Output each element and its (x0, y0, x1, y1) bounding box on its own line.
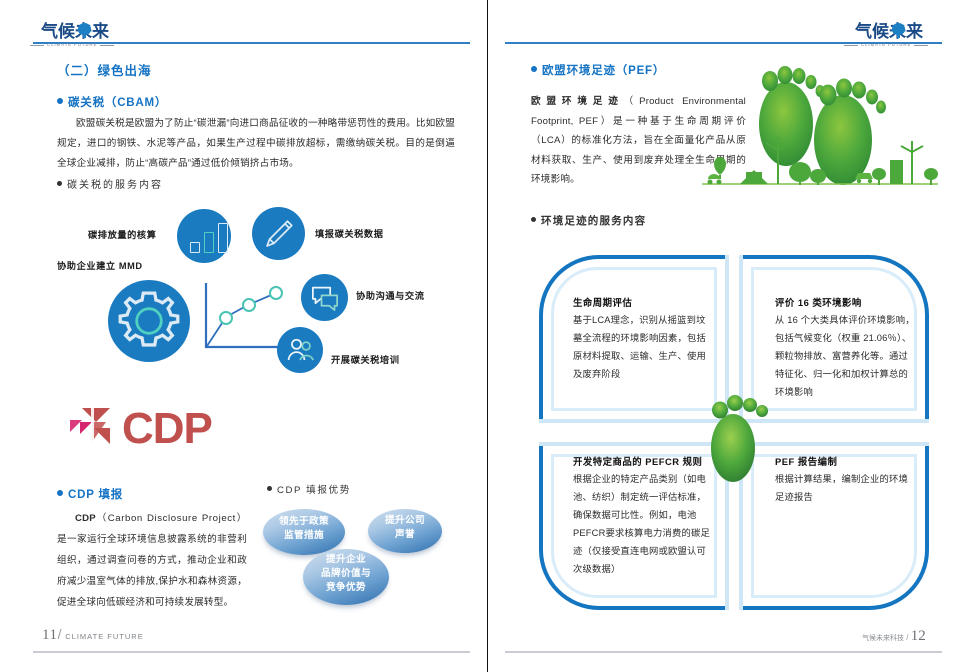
advantage-label-1: 提升公司 声誉 (368, 509, 442, 553)
advantage-label-2: 提升企业 品牌价值与 竞争优势 (303, 549, 389, 605)
balloon-pin-icon (892, 23, 905, 38)
quadrant-body-2: 根据企业的特定产品类别（如电池、纺织）制定统一评估标准，确保数据可比性。例如，电… (573, 470, 715, 578)
balloon-pin-icon (78, 23, 91, 38)
cdp-advantage-heading: CDP 填报优势 (267, 482, 351, 496)
pencil-glyph (262, 217, 296, 251)
left-footer-label: CLIMATE FUTURE (65, 632, 143, 641)
pef-services-heading: 环境足迹的服务内容 (531, 213, 646, 228)
logo-text-en: CLIMATE FUTURE (861, 42, 911, 47)
right-page-number: 12 (911, 628, 926, 644)
logo-text-cn: 气候未来 (41, 22, 109, 41)
cdp-logo-wordmark: CDP (122, 404, 212, 454)
chat-icon (301, 274, 348, 321)
right-header-logo: 气候未来 CLIMATE FUTURE (855, 22, 947, 52)
quadrant-title-1: 评价 16 类环境影响 (775, 295, 862, 309)
pef-service-quadrants: 生命周期评估 基于LCA理念，识别从摇篮到坟墓全流程的环境影响因素，包括原材料提… (539, 255, 929, 610)
bullet-dot-icon (57, 98, 63, 104)
service-label-3: 协助沟通与交流 (356, 288, 425, 302)
service-label-0: 碳排放量的核算 (88, 227, 157, 241)
page-title: （二）绿色出海 (57, 60, 152, 79)
bullet-dot-icon (267, 486, 272, 491)
advantage-bubble-2: 提升企业 品牌价值与 竞争优势 (303, 549, 389, 605)
logo-text-en: CLIMATE FUTURE (47, 42, 97, 47)
quadrant-title-2: 开发特定商品的 PEFCR 规则 (573, 454, 702, 468)
gear-icon (108, 280, 190, 362)
cbam-services-heading: 碳关税的服务内容 (57, 176, 163, 191)
brochure-spread: 气候未来 CLIMATE FUTURE （二）绿色出海 碳关税（CBAM） 欧盟… (0, 0, 975, 672)
people-glyph (286, 338, 314, 362)
right-footer-label: 气候未来科技 (862, 635, 904, 642)
bar-chart-glyph (190, 223, 230, 253)
logo-text-cn: 气候未来 (855, 22, 923, 41)
quadrant-body-3: 根据计算结果，编制企业的环境足迹报告 (775, 470, 915, 506)
advantage-bubble-1: 提升公司 声誉 (368, 509, 442, 553)
page-gutter (487, 0, 488, 672)
cdp-logo-mark (66, 398, 126, 458)
service-label-4: 开展碳关税培训 (331, 352, 400, 366)
pencil-icon (252, 207, 305, 260)
people-icon (277, 327, 323, 373)
cbam-heading: 碳关税（CBAM） (57, 94, 167, 110)
cdp-paragraph: CDP（Carbon Disclosure Project）是一家运行全球环境信… (57, 508, 247, 613)
left-footer-rule (33, 651, 470, 653)
service-label-2: 协助企业建立 MMD (57, 258, 143, 272)
pef-heading: 欧盟环境足迹（PEF） (531, 62, 665, 78)
right-footer: 气候未来科技 / 12 (862, 628, 926, 645)
bullet-dot-icon (531, 66, 537, 72)
bullet-dot-icon (57, 181, 62, 186)
cbam-paragraph: 欧盟碳关税是欧盟为了防止“碳泄漏”向进口商品征收的一种略带惩罚性的费用。比如欧盟… (57, 114, 455, 174)
green-footprint-illustration (700, 52, 940, 200)
quadrant-title-0: 生命周期评估 (573, 295, 632, 309)
footprint-left (759, 66, 825, 166)
left-footer: 11/ CLIMATE FUTURE (42, 626, 144, 644)
cdp-heading: CDP 填报 (57, 486, 123, 502)
left-header-logo: 气候未来 CLIMATE FUTURE (41, 22, 133, 52)
chat-glyph (310, 285, 340, 311)
bullet-dot-icon (531, 217, 536, 222)
left-page-number: 11 (42, 627, 58, 643)
bar-chart-icon (177, 209, 231, 263)
bullet-dot-icon (57, 490, 63, 496)
service-label-1: 填报碳关税数据 (315, 226, 384, 240)
quadrant-body-0: 基于LCA理念，识别从摇篮到坟墓全流程的环境影响因素，包括原材料提取、运输、生产… (573, 311, 713, 383)
gear-glyph (108, 280, 190, 362)
quadrant-body-1: 从 16 个大类具体评价环境影响，包括气候变化（权重 21.06％）、颗粒物排放… (775, 311, 915, 401)
right-footer-rule (505, 651, 942, 653)
quadrant-title-3: PEF 报告编制 (775, 454, 837, 468)
